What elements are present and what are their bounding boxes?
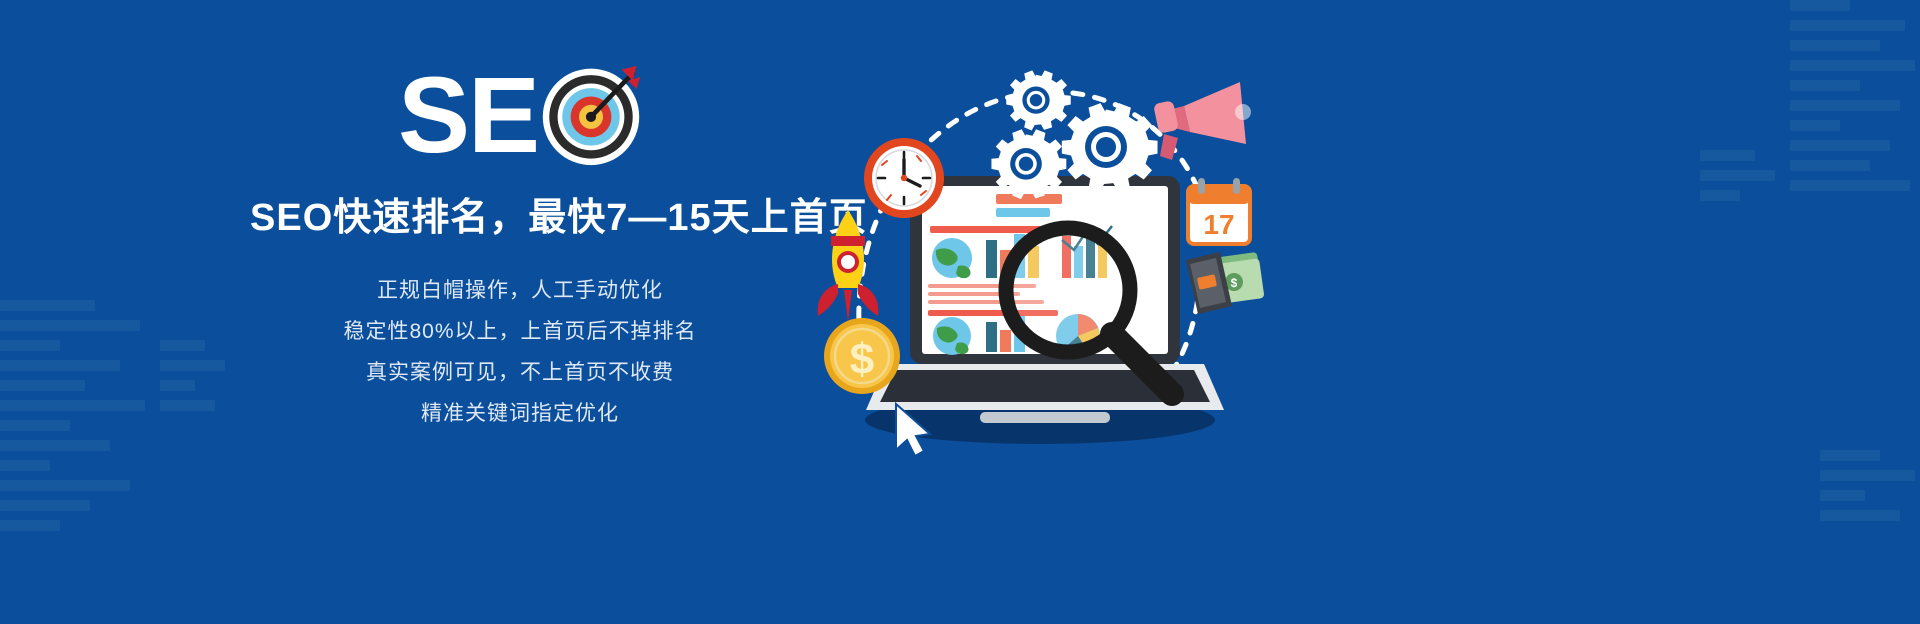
background-code-block-right-mid — [1700, 150, 1780, 210]
background-code-block-bottom-left — [0, 300, 150, 540]
megaphone-icon — [1153, 82, 1251, 160]
banner-subline-3: 真实案例可见，不上首页不收费 — [250, 353, 790, 394]
background-code-block-bottom-left-2 — [160, 340, 230, 420]
banner-subline-4: 精准关键词指定优化 — [250, 394, 790, 435]
background-code-block-top-right — [1790, 0, 1920, 200]
seo-banner: SE SEO快速排名，最快7—15天上首页 — [0, 0, 1920, 624]
banner-subline-1: 正规白帽操作，人工手动优化 — [250, 271, 790, 312]
background-code-block-bottom-right — [1820, 450, 1920, 530]
rocket-icon — [818, 210, 879, 322]
calendar-icon: 17 — [1188, 178, 1250, 244]
svg-text:$: $ — [1231, 276, 1238, 290]
banner-text-block: SE SEO快速排名，最快7—15天上首页 — [250, 60, 790, 435]
banner-subline-2: 稳定性80%以上，上首页后不掉排名 — [250, 312, 790, 353]
calendar-day-label: 17 — [1203, 209, 1234, 240]
dollar-coin-icon: $ — [824, 318, 900, 394]
svg-text:$: $ — [850, 335, 874, 384]
banner-headline: SEO快速排名，最快7—15天上首页 — [250, 194, 790, 243]
seo-logo-letters: SE — [398, 61, 538, 169]
seo-laptop-illustration: 80% — [800, 40, 1270, 460]
target-bullseye-icon — [540, 64, 642, 166]
money-wallet-icon: $ — [1186, 252, 1265, 314]
clock-icon — [864, 138, 944, 218]
seo-logo: SE — [250, 60, 790, 170]
